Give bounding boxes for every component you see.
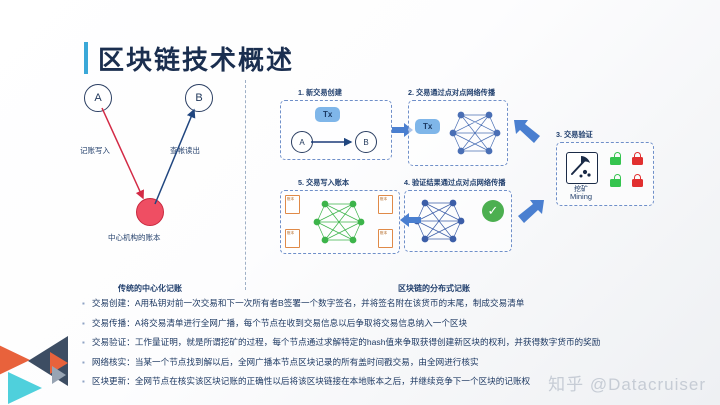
step1-node-b: B xyxy=(355,131,377,153)
mining-label-en: Mining xyxy=(562,192,600,201)
arrow-step3-to-step4 xyxy=(514,198,548,228)
lock-grid xyxy=(608,150,652,196)
ledger-doc-1: 账本 xyxy=(285,195,300,214)
bullet-marker-icon: ▪ xyxy=(82,376,85,387)
lock-open-green-1 xyxy=(610,152,621,165)
step-2-caption: 2. 交易通过点对点网络传播 xyxy=(408,88,495,98)
lock-closed-red-2 xyxy=(632,174,643,187)
bullet-text-2: 交易传播：A将交易清单进行全网广播，每个节点在收到交易信息以后争取将交易信息纳入… xyxy=(92,318,467,329)
step-5-caption: 5. 交易写入账本 xyxy=(298,178,349,188)
peer-network-green xyxy=(313,196,365,248)
decor-triangle-gray xyxy=(52,366,66,384)
bullet-text-3: 交易验证：工作量证明，就是所谓挖矿的过程，每个节点通过求解特定的hash值来争取… xyxy=(92,337,600,348)
ledger-doc-4: 账本 xyxy=(378,229,393,248)
ledger-doc-3: 账本 xyxy=(285,229,300,248)
left-diagram-arrows xyxy=(70,80,250,240)
step-3-caption: 3. 交易验证 xyxy=(556,130,593,140)
peer-network-blue-1 xyxy=(449,107,501,159)
caption-centralized: 传统的中心化记账 xyxy=(118,283,182,294)
page-title: 区块链技术概述 xyxy=(98,40,294,77)
slide-canvas: 区块链技术概述 A B 记账写入 查帐读出 中心机构的账本 1. 新交易创建 T… xyxy=(0,0,720,405)
step-2-box: Tx xyxy=(408,100,508,166)
bullet-text-4: 网络核实：当某一个节点找到解以后，全网广播本节点区块记录的所有盖时间戳交易，由全… xyxy=(92,357,479,368)
step-4-caption: 4. 验证结果通过点对点网络传播 xyxy=(404,178,505,188)
bullet-item-1: ▪ 交易创建：A用私钥对前一次交易和下一次所有者B签署一个数字签名，并将签名附在… xyxy=(82,298,682,309)
bullet-marker-icon: ▪ xyxy=(82,318,85,329)
bullet-marker-icon: ▪ xyxy=(82,298,85,309)
step1-arrow xyxy=(311,137,357,147)
bullet-text-1: 交易创建：A用私钥对前一次交易和下一次所有者B签署一个数字签名，并将签名附在该货… xyxy=(92,298,525,309)
tx-badge-2: Tx xyxy=(415,119,440,134)
verification-check-icon: ✓ xyxy=(482,200,504,222)
ledger-doc-2: 账本 xyxy=(378,195,393,214)
watermark: 知乎 @Datacruiser xyxy=(548,370,706,395)
caption-distributed: 区块链的分布式记账 xyxy=(398,283,470,294)
step-1-box: Tx A B xyxy=(280,100,392,160)
arrow-step2-to-step3 xyxy=(512,118,546,148)
lock-open-green-2 xyxy=(610,174,621,187)
decor-triangle-cyan xyxy=(8,372,42,404)
step-1-caption: 1. 新交易创建 xyxy=(298,88,342,98)
lock-closed-red-1 xyxy=(632,152,643,165)
mining-pickaxe-icon xyxy=(566,152,598,184)
bullet-text-5: 区块更新：全网节点在核实该区块记账的正确性以后将该区块链接在本地账本之后，并继续… xyxy=(92,376,530,387)
bullet-marker-icon: ▪ xyxy=(82,337,85,348)
tx-badge-1: Tx xyxy=(315,107,340,122)
step1-node-a: A xyxy=(291,131,313,153)
bullet-item-3: ▪ 交易验证：工作量证明，就是所谓挖矿的过程，每个节点通过求解特定的hash值来… xyxy=(82,337,682,348)
arrow-step4-to-step5 xyxy=(400,212,422,228)
bullet-marker-icon: ▪ xyxy=(82,357,85,368)
title-accent-bar xyxy=(84,42,88,74)
step-5-box: 账本 账本 账本 账本 xyxy=(280,190,400,254)
bullet-item-4: ▪ 网络核实：当某一个节点找到解以后，全网广播本节点区块记录的所有盖时间戳交易，… xyxy=(82,357,682,368)
bullet-item-2: ▪ 交易传播：A将交易清单进行全网广播，每个节点在收到交易信息以后争取将交易信息… xyxy=(82,318,682,329)
